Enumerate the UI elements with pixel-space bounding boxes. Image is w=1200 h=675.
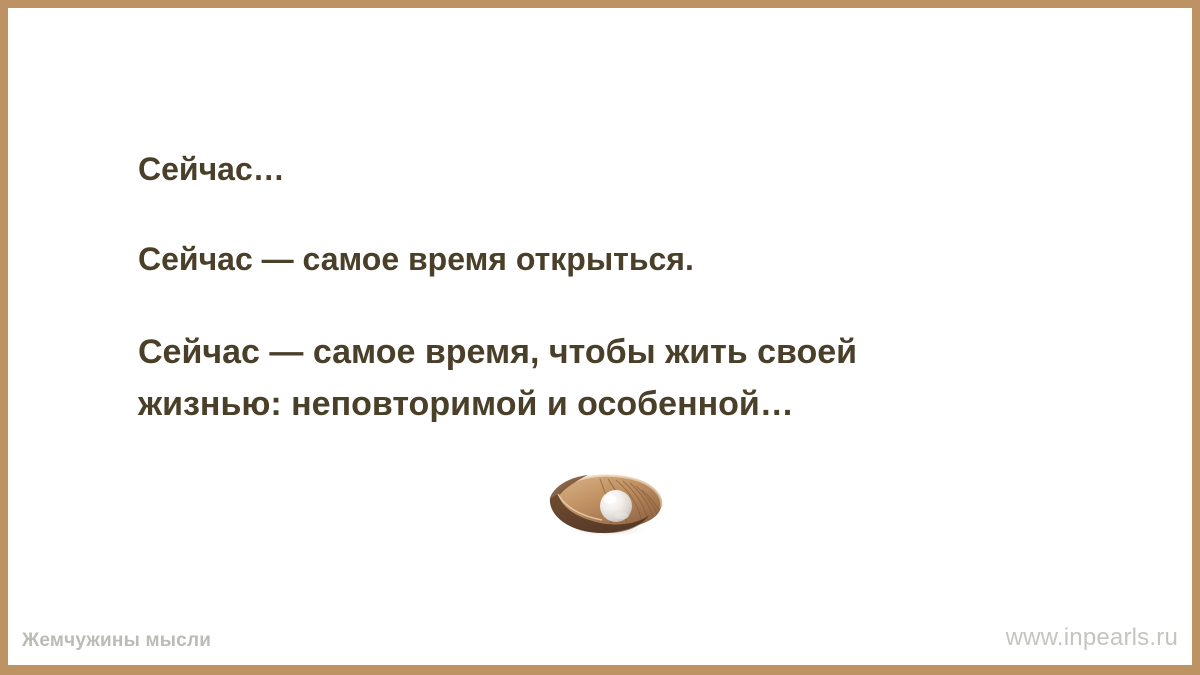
footer-url[interactable]: www.inpearls.ru xyxy=(1006,624,1178,652)
oyster-shell-icon xyxy=(544,470,668,538)
oyster-shell-with-pearl-image xyxy=(544,470,668,538)
quote-slide: Сейчас… Сейчас — самое время открыться. … xyxy=(0,0,1200,675)
quote-line-3: Сейчас — самое время, чтобы жить своей ж… xyxy=(138,326,968,430)
quote-line-2: Сейчас — самое время открыться. xyxy=(138,238,1068,280)
footer-brand: Жемчужины мысли xyxy=(22,630,211,652)
quote-block: Сейчас… Сейчас — самое время открыться. … xyxy=(138,148,1068,430)
quote-line-1: Сейчас… xyxy=(138,148,1068,190)
